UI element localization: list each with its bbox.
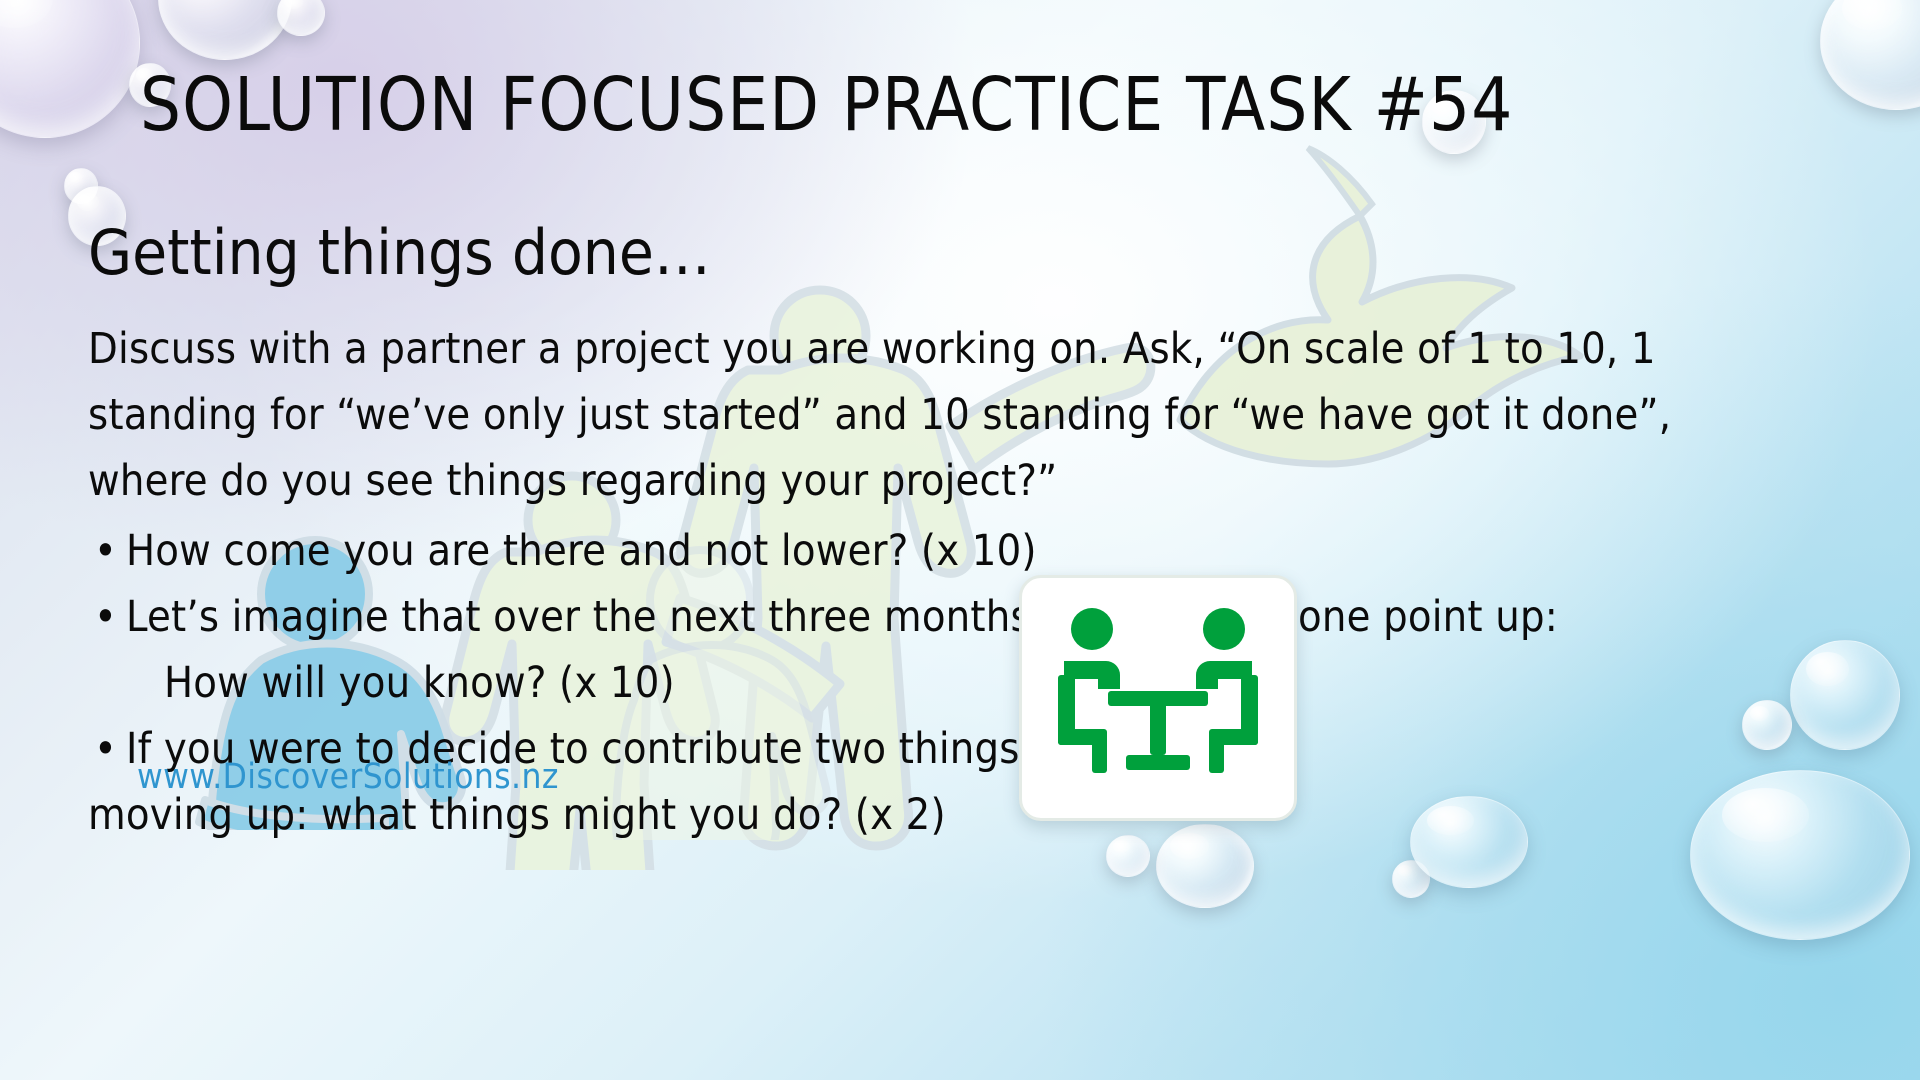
bullet-marker: • xyxy=(94,716,117,782)
bullet-text: Let’s imagine that over the next three m… xyxy=(126,592,1558,642)
bubble-left-mid-small xyxy=(64,168,98,204)
bubble-top-left-small xyxy=(277,0,325,36)
slide-title: SOLUTION FOCUSED PRACTICE TASK #54 xyxy=(140,68,1513,142)
bubble-large-top-left xyxy=(0,0,140,138)
bullet-marker: • xyxy=(94,518,117,584)
bubble-bottom-tiny xyxy=(1392,860,1430,898)
bubble-top-left-upper xyxy=(158,0,292,60)
bubble-top-right-large xyxy=(1820,0,1920,110)
bubble-right-mid xyxy=(1790,640,1900,750)
slide-subtitle: Getting things done… xyxy=(88,222,711,284)
website-url-link[interactable]: www.DiscoverSolutions.nz xyxy=(137,760,559,795)
body-paragraph: Discuss with a partner a project you are… xyxy=(88,316,1788,514)
slide-canvas: SOLUTION FOCUSED PRACTICE TASK #54 Getti… xyxy=(0,0,1920,1080)
bullet-list: • How come you are there and not lower? … xyxy=(88,518,1788,782)
meeting-icon-card xyxy=(1019,575,1297,821)
meeting-people-at-table-icon xyxy=(1042,603,1274,793)
list-item: • Let’s imagine that over the next three… xyxy=(88,584,1788,716)
bullet-text: How come you are there and not lower? (x… xyxy=(126,526,1037,576)
bullet-continuation: How will you know? (x 10) xyxy=(126,650,1788,716)
list-item: • How come you are there and not lower? … xyxy=(88,518,1788,584)
bullet-marker: • xyxy=(94,584,117,650)
